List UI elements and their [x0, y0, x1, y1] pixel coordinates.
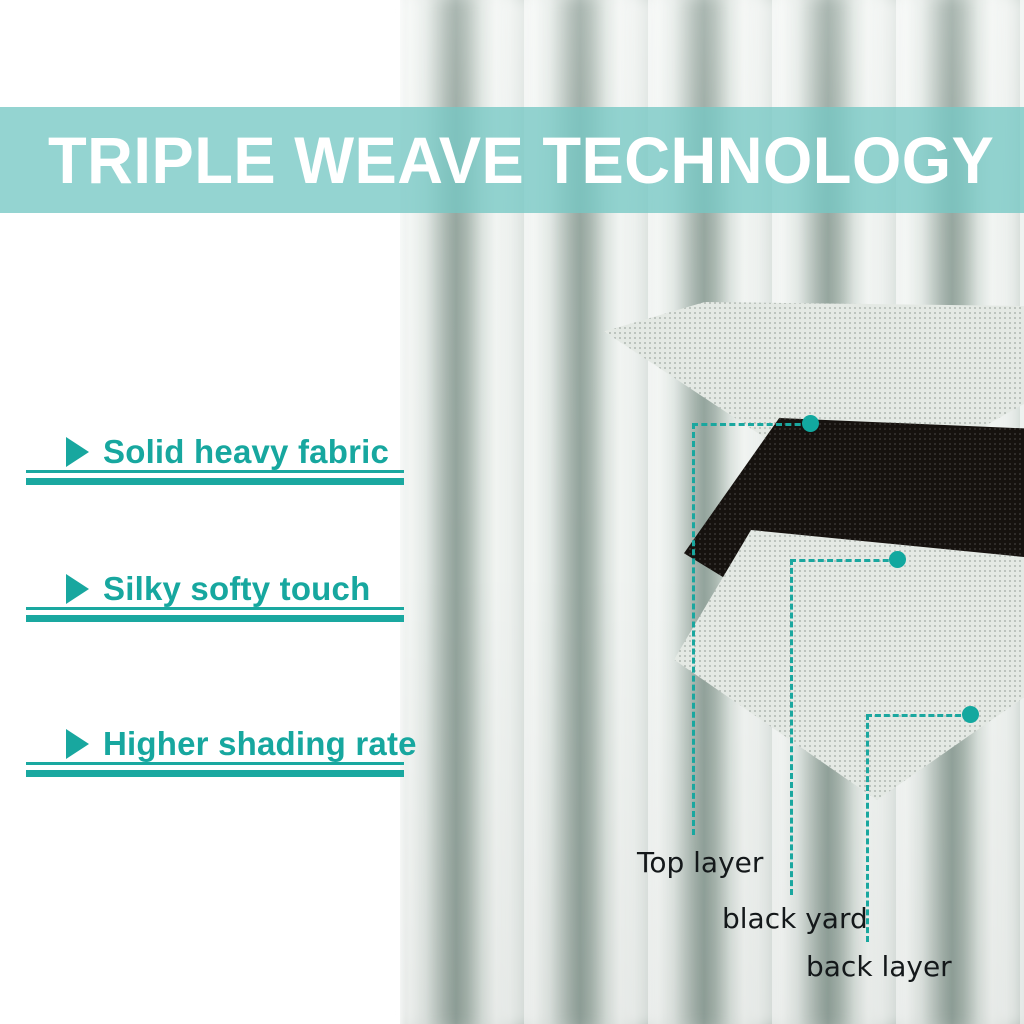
feature-divider-1: [26, 470, 404, 485]
feature-label-1: Solid heavy fabric: [103, 433, 389, 471]
feature-row-3: Higher shading rate: [66, 722, 476, 766]
leader-line-1-vertical: [692, 423, 695, 835]
leader-line-1-horizontal: [692, 423, 810, 426]
callout-label-top-layer: Top layer: [637, 846, 763, 879]
leader-line-2-vertical: [790, 559, 793, 895]
divider-thick-line: [26, 615, 404, 622]
divider-thick-line: [26, 770, 404, 777]
page-title: TRIPLE WEAVE TECHNOLOGY: [48, 114, 985, 206]
feature-label-3: Higher shading rate: [103, 725, 417, 763]
leader-dot-3: [962, 706, 979, 723]
feature-item-2: Silky softy touch: [66, 567, 476, 611]
feature-row-1: Solid heavy fabric: [66, 430, 476, 474]
callout-label-black-yard: black yard: [722, 902, 868, 935]
leader-line-3-horizontal: [866, 714, 970, 717]
feature-row-2: Silky softy touch: [66, 567, 476, 611]
feature-item-3: Higher shading rate: [66, 722, 476, 766]
callout-label-back-layer: back layer: [806, 950, 952, 983]
leader-line-2-horizontal: [790, 559, 898, 562]
divider-thin-line: [26, 762, 404, 765]
feature-item-1: Solid heavy fabric: [66, 430, 476, 474]
feature-divider-3: [26, 762, 404, 777]
leader-dot-1: [802, 415, 819, 432]
divider-thin-line: [26, 470, 404, 473]
triangle-bullet-icon: [66, 729, 89, 759]
fabric-layers-diagram: [600, 296, 1024, 836]
leader-dot-2: [889, 551, 906, 568]
infographic-canvas: TRIPLE WEAVE TECHNOLOGY Solid heavy fabr…: [0, 0, 1024, 1024]
divider-thin-line: [26, 607, 404, 610]
divider-thick-line: [26, 478, 404, 485]
feature-label-2: Silky softy touch: [103, 570, 370, 608]
triangle-bullet-icon: [66, 574, 89, 604]
triangle-bullet-icon: [66, 437, 89, 467]
feature-divider-2: [26, 607, 404, 622]
